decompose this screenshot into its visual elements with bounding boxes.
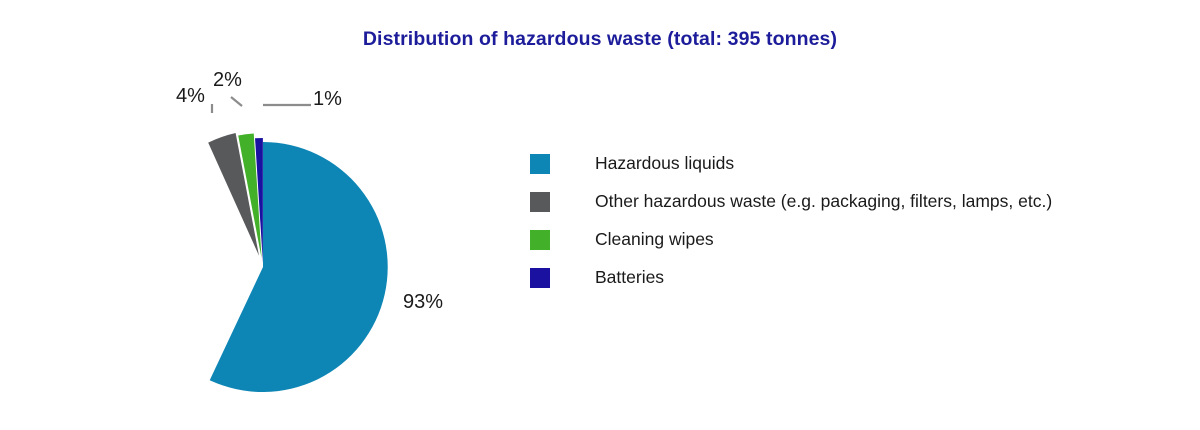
pie-label-cleaning-wipes: 2%	[213, 69, 242, 92]
legend-swatch-icon	[530, 192, 550, 212]
legend-item-batteries[interactable]: Batteries	[530, 259, 1180, 297]
legend-item-label: Other hazardous waste (e.g. packaging, f…	[595, 193, 1052, 211]
legend-item-label: Cleaning wipes	[595, 231, 714, 249]
pie-label-other-hazardous: 4%	[176, 85, 205, 108]
pie-plot-area: 93% 4% 2% 1%	[0, 0, 520, 430]
legend-swatch-icon	[530, 230, 550, 250]
pie-label-hazardous-liquids: 93%	[403, 291, 443, 314]
legend-item-other-hazardous-waste[interactable]: Other hazardous waste (e.g. packaging, f…	[530, 183, 1180, 221]
pie-chart-figure: Distribution of hazardous waste (total: …	[0, 0, 1200, 430]
legend-item-cleaning-wipes[interactable]: Cleaning wipes	[530, 221, 1180, 259]
legend-swatch-icon	[530, 154, 550, 174]
pie-label-batteries: 1%	[313, 88, 342, 111]
chart-legend: Hazardous liquids Other hazardous waste …	[530, 145, 1180, 297]
legend-swatch-icon	[530, 268, 550, 288]
legend-item-label: Batteries	[595, 269, 664, 287]
pie-svg	[0, 0, 520, 430]
legend-item-hazardous-liquids[interactable]: Hazardous liquids	[530, 145, 1180, 183]
legend-item-label: Hazardous liquids	[595, 155, 734, 173]
leader-line-cleaning-wipes	[231, 97, 242, 106]
